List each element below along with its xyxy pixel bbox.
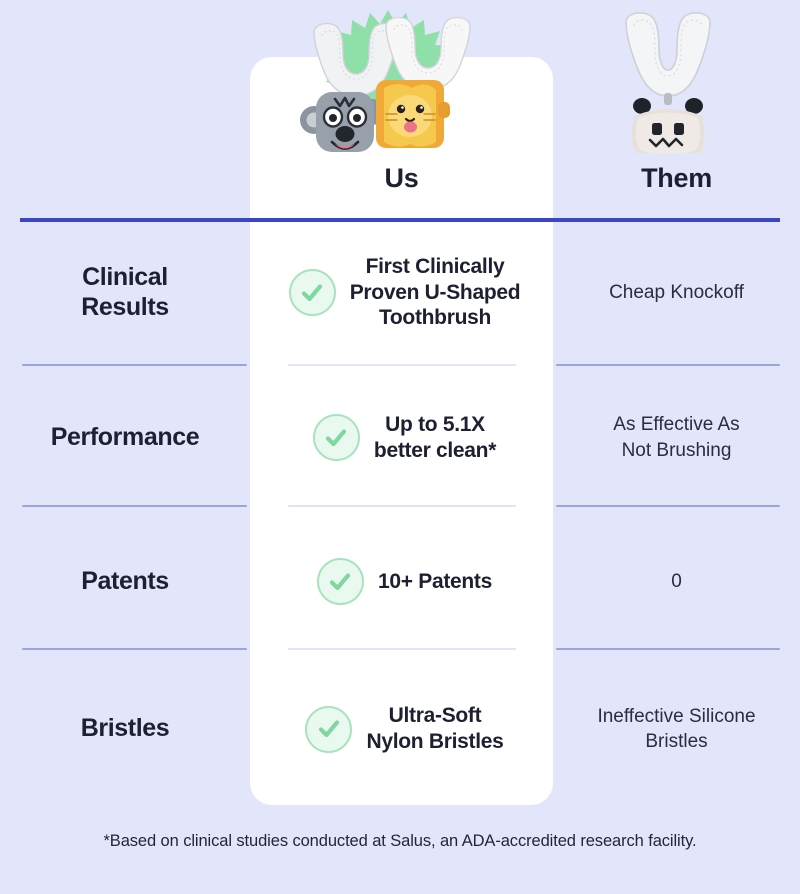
them-value-line: Ineffective Silicone — [597, 704, 755, 729]
row-divider-2-left — [22, 505, 247, 507]
us-value: 10+ Patents — [378, 569, 492, 595]
us-cell-patents: 10+ Patents — [250, 510, 553, 653]
feature-label: Patents — [81, 567, 169, 597]
them-value-line: As Effective As — [613, 412, 739, 437]
row-divider-1-right — [556, 364, 780, 366]
check-circle-icon — [317, 558, 364, 605]
them-column-title: Them — [641, 163, 712, 194]
us-value: First Clinically Proven U-Shaped Toothbr… — [350, 254, 521, 331]
feature-label: Performance — [51, 423, 199, 453]
feature-cell-bristles: Bristles — [0, 653, 250, 805]
us-value: Ultra-Soft Nylon Bristles — [366, 703, 503, 754]
feature-cell-performance: Performance — [0, 365, 250, 510]
feature-label-line: Clinical — [81, 263, 169, 293]
them-value-line: Bristles — [597, 729, 755, 754]
row-divider-3-right — [556, 648, 780, 650]
them-cell-bristles: Ineffective Silicone Bristles — [553, 653, 800, 805]
footnote-text: *Based on clinical studies conducted at … — [0, 832, 800, 851]
them-value: 0 — [671, 569, 682, 594]
row-divider-3-left — [22, 648, 247, 650]
row-divider-1-mid — [288, 364, 516, 366]
comparison-table: Us Them Clinical Results First Clinicall… — [0, 0, 800, 894]
them-cell-patents: 0 — [553, 510, 800, 653]
us-cell-performance: Up to 5.1X better clean* — [250, 365, 553, 510]
feature-label: Clinical Results — [81, 263, 169, 322]
them-value: Ineffective Silicone Bristles — [597, 704, 755, 754]
us-value: Up to 5.1X better clean* — [374, 412, 496, 463]
us-value-line: First Clinically — [350, 254, 521, 280]
them-value: Cheap Knockoff — [609, 280, 744, 305]
header-divider — [20, 218, 780, 222]
header-cell-empty — [0, 0, 250, 220]
them-cell-clinical-results: Cheap Knockoff — [553, 220, 800, 365]
us-value-line: Up to 5.1X — [374, 412, 496, 438]
check-circle-icon — [289, 269, 336, 316]
them-value: As Effective As Not Brushing — [613, 412, 739, 462]
feature-label: Bristles — [81, 714, 170, 744]
us-value-line: Ultra-Soft — [366, 703, 503, 729]
us-value-line: Toothbrush — [350, 305, 521, 331]
us-value-line: Proven U-Shaped — [350, 280, 521, 306]
row-divider-3-mid — [288, 648, 516, 650]
row-divider-1-left — [22, 364, 247, 366]
feature-cell-clinical-results: Clinical Results — [0, 220, 250, 365]
check-circle-icon — [305, 706, 352, 753]
header-cell-us: Us — [250, 0, 553, 220]
feature-label-line: Results — [81, 293, 169, 323]
us-value-line: Nylon Bristles — [366, 729, 503, 755]
row-divider-2-mid — [288, 505, 516, 507]
us-cell-bristles: Ultra-Soft Nylon Bristles — [250, 653, 553, 805]
header-cell-them: Them — [553, 0, 800, 220]
them-value-line: Not Brushing — [613, 438, 739, 463]
us-column-title: Us — [385, 163, 419, 194]
us-value-line: better clean* — [374, 438, 496, 464]
them-cell-performance: As Effective As Not Brushing — [553, 365, 800, 510]
us-cell-clinical-results: First Clinically Proven U-Shaped Toothbr… — [250, 220, 553, 365]
feature-cell-patents: Patents — [0, 510, 250, 653]
row-divider-2-right — [556, 505, 780, 507]
check-circle-icon — [313, 414, 360, 461]
